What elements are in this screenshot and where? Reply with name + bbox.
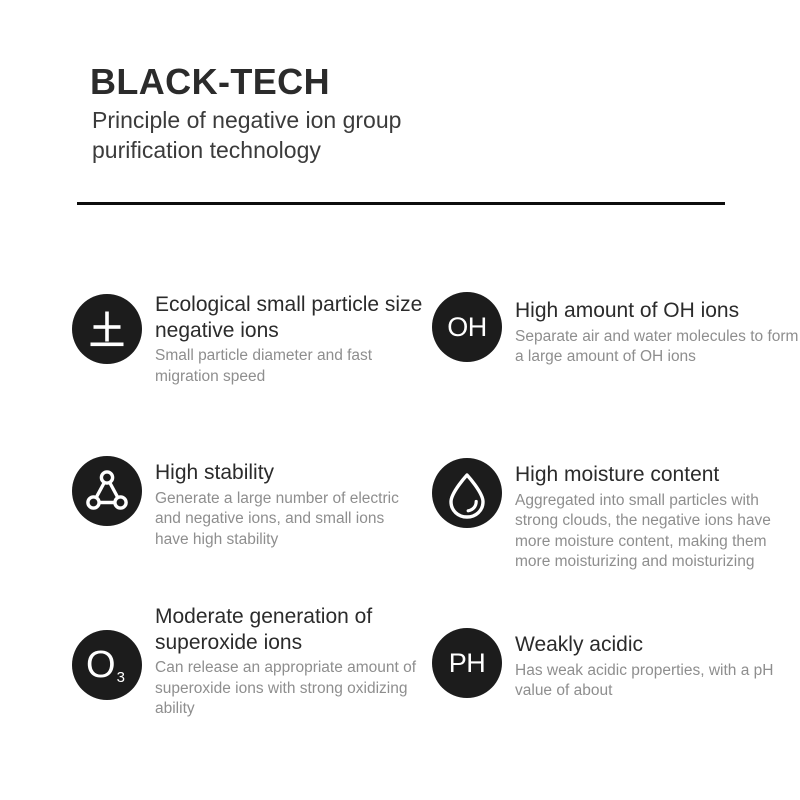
- feature-title: High amount of OH ions: [515, 298, 800, 324]
- feature-title: Ecological small particle size negative …: [155, 292, 423, 343]
- feature-description: Aggregated into small particles with str…: [515, 491, 797, 573]
- ph-text-icon: PH: [432, 628, 502, 698]
- infographic-page: BLACK-TECH Principle of negative ion gro…: [0, 0, 800, 800]
- o3-icon-label: O3: [86, 646, 124, 684]
- feature-description: Small particle diameter and fast migrati…: [155, 346, 423, 387]
- feature-description: Separate air and water molecules to form…: [515, 327, 800, 368]
- feature-body: High stability Generate a large number o…: [155, 460, 417, 550]
- ph-icon-label: PH: [449, 650, 486, 677]
- feature-title: High moisture content: [515, 462, 797, 488]
- feature-description: Can release an appropriate amount of sup…: [155, 658, 417, 720]
- feature-title: Weakly acidic: [515, 632, 797, 658]
- plus-minus-icon: [72, 294, 142, 364]
- oh-text-icon: OH: [432, 292, 502, 362]
- feature-description: Generate a large number of electric and …: [155, 489, 417, 551]
- oh-icon-label: OH: [447, 314, 487, 341]
- molecule-triangle-icon: [72, 456, 142, 526]
- ozone-o3-icon: O3: [72, 630, 142, 700]
- feature-body: Ecological small particle size negative …: [155, 292, 423, 387]
- feature-body: Weakly acidic Has weak acidic properties…: [515, 632, 797, 702]
- feature-title: Moderate generation of superoxide ions: [155, 604, 417, 655]
- feature-description: Has weak acidic properties, with a pH va…: [515, 661, 797, 702]
- feature-grid: Ecological small particle size negative …: [0, 0, 800, 800]
- feature-body: High moisture content Aggregated into sm…: [515, 462, 797, 573]
- feature-title: High stability: [155, 460, 417, 486]
- feature-body: High amount of OH ions Separate air and …: [515, 298, 800, 368]
- o3-subscript: 3: [117, 669, 125, 686]
- feature-body: Moderate generation of superoxide ions C…: [155, 604, 417, 720]
- water-droplet-icon: [432, 458, 502, 528]
